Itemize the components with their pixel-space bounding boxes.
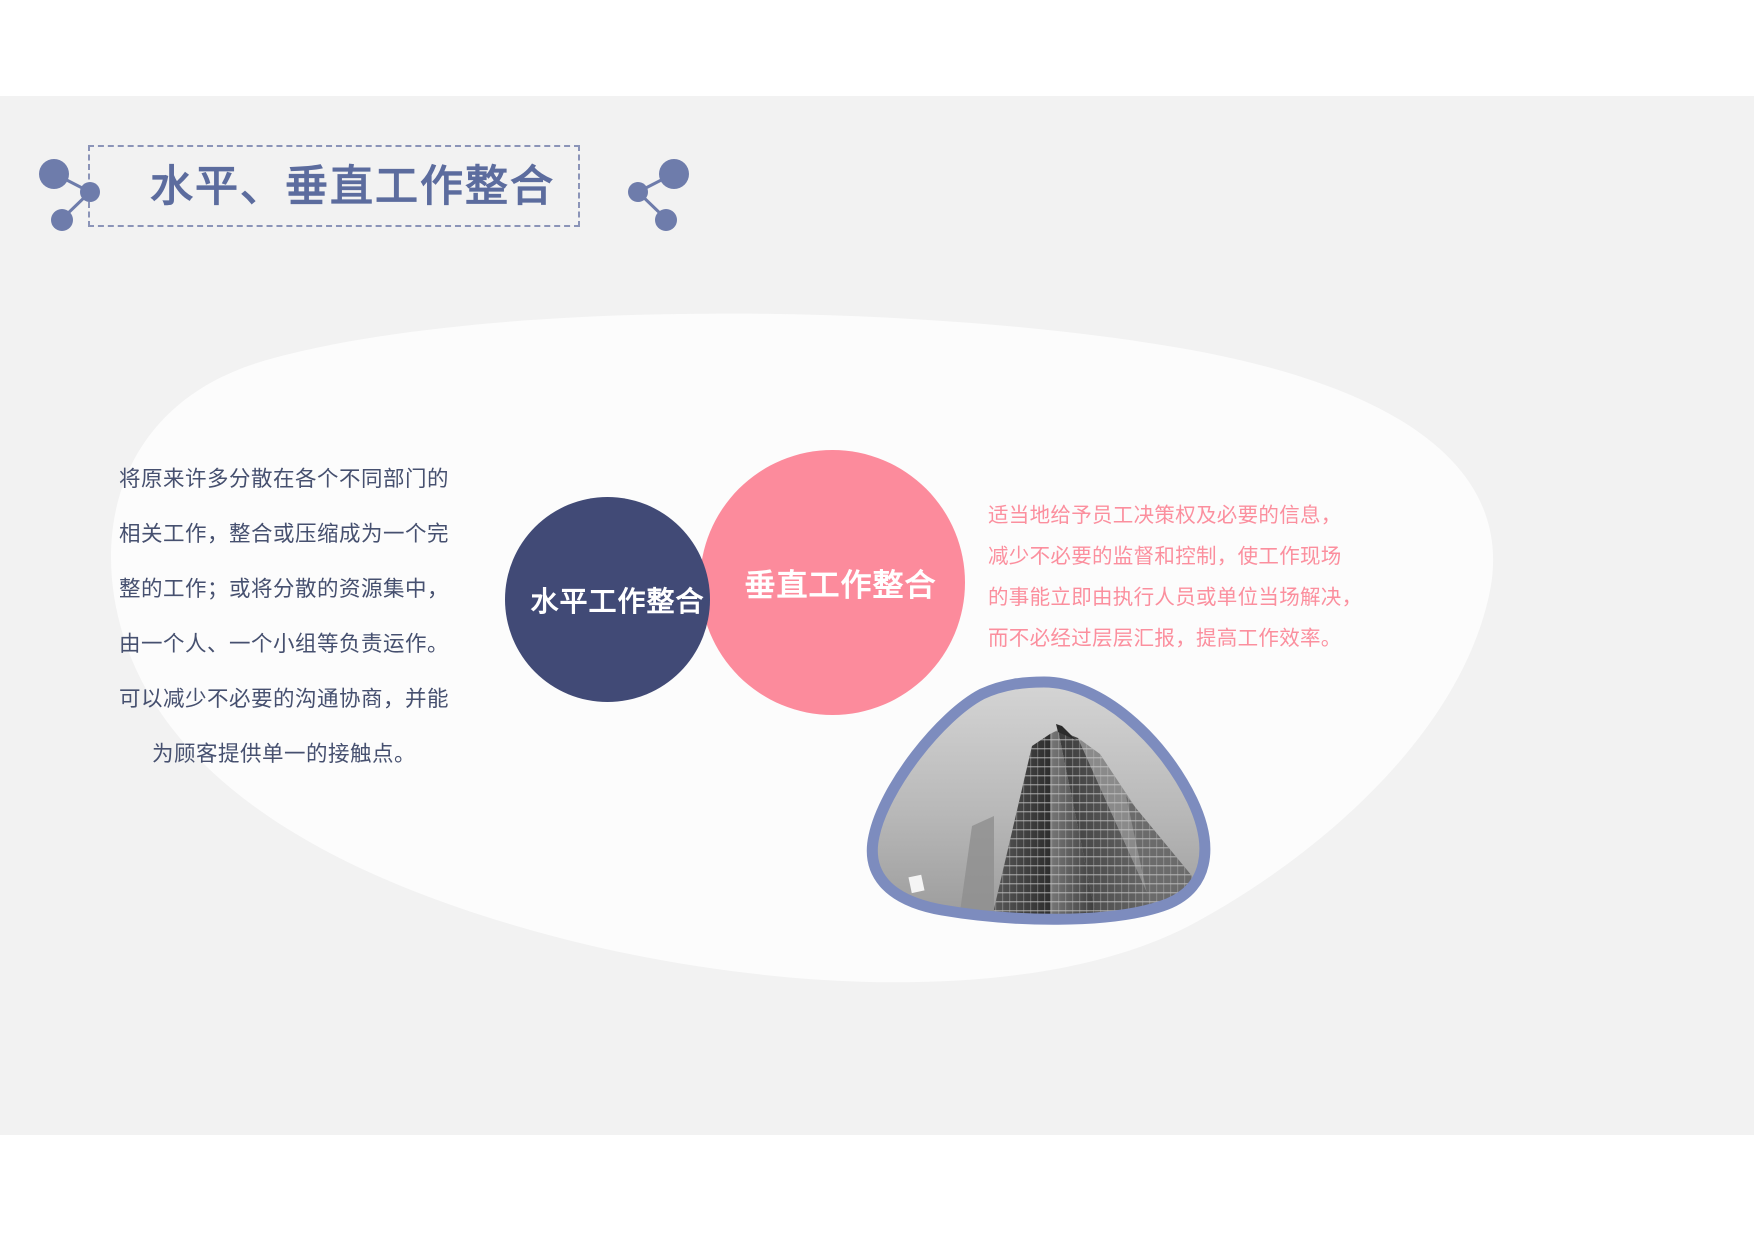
left-text-line: 由一个人、一个小组等负责运作。 (104, 617, 464, 672)
right-text-line: 适当地给予员工决策权及必要的信息， (988, 495, 1390, 536)
right-description-text: 适当地给予员工决策权及必要的信息， 减少不必要的监督和控制，使工作现场 的事能立… (988, 495, 1390, 659)
slide-canvas: 水平、垂直工作整合 将原来许多分散在各个不同部门的 相关工作，整合或压缩成为一个… (0, 0, 1754, 1239)
skyscraper-photo (862, 676, 1214, 926)
left-text-line: 为顾客提供单一的接触点。 (104, 727, 464, 782)
right-text-line: 减少不必要的监督和控制，使工作现场 (988, 536, 1390, 577)
circle-horizontal-label: 水平工作整合 (530, 580, 704, 620)
left-text-line: 相关工作，整合或压缩成为一个完 (104, 507, 464, 562)
left-text-line: 可以减少不必要的沟通协商，并能 (104, 672, 464, 727)
circle-vertical-label: 垂直工作整合 (745, 560, 937, 605)
right-text-line: 而不必经过层层汇报，提高工作效率。 (988, 618, 1390, 659)
left-text-line: 整的工作；或将分散的资源集中， (104, 562, 464, 617)
page-title: 水平、垂直工作整合 (150, 152, 580, 222)
left-description-text: 将原来许多分散在各个不同部门的 相关工作，整合或压缩成为一个完 整的工作；或将分… (104, 452, 464, 782)
circle-horizontal-integration[interactable]: 水平工作整合 (505, 497, 710, 702)
right-text-line: 的事能立即由执行人员或单位当场解决， (988, 577, 1390, 618)
left-text-line: 将原来许多分散在各个不同部门的 (104, 452, 464, 507)
